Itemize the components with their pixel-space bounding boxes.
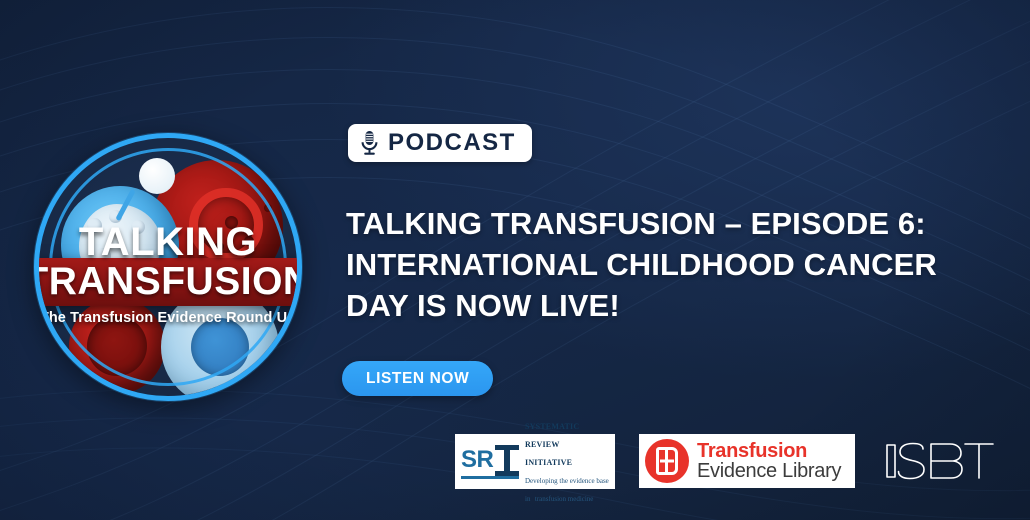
logo-systematic-review-initiative[interactable]: SR SYSTEMATIC REVIEW INITIATIVE Developi… [455,434,615,489]
tel-line-2: Evidence Library [697,460,841,482]
sri-tagline-line-2: transfusion medicine [535,495,594,503]
red-cell-dot-icon [264,204,272,212]
sri-wordmark: SYSTEMATIC REVIEW INITIATIVE Developing … [525,416,609,506]
sri-monogram-letters: SR [461,448,493,472]
promo-banner: TRANSFUSION TALKING The Transfusion Evid… [0,0,1030,520]
logo-transfusion-evidence-library[interactable]: Transfusion Evidence Library [639,434,855,488]
listen-now-button[interactable]: LISTEN NOW [342,361,493,396]
artwork-title-banner: TRANSFUSION [34,258,302,306]
tel-line-1: Transfusion [697,440,807,462]
episode-headline: TALKING TRANSFUSION – EPISODE 6: INTERNA… [346,203,1006,326]
book-circle-icon [645,439,689,483]
sri-title-line-1: SYSTEMATIC REVIEW [525,422,579,449]
sri-title-line-2: INITIATIVE [525,458,572,467]
artwork-title-line2: TRANSFUSION [34,258,302,306]
podcast-badge: PODCAST [348,124,532,162]
artwork-tagline: The Transfusion Evidence Round Up [39,310,297,326]
podcast-badge-label: PODCAST [388,131,516,155]
artwork-ring: TRANSFUSION TALKING The Transfusion Evid… [34,133,302,401]
book-glyph [656,447,678,475]
target-cell-nucleus [191,318,249,376]
headline-line-2: INTERNATIONAL CHILDHOOD CANCER [346,244,1006,285]
headline-line-3: DAY IS NOW LIVE! [346,285,1006,326]
microphone-icon [360,130,379,156]
isbt-outline-icon [879,436,997,486]
platelet-icon [139,158,175,194]
sri-monogram-icon: SR [461,443,521,479]
artwork-title-line1: TALKING [39,222,297,262]
tel-wordmark: Transfusion Evidence Library [697,441,849,481]
sri-underline [461,476,519,479]
podcast-cover-artwork: TRANSFUSION TALKING The Transfusion Evid… [34,133,302,401]
logo-isbt[interactable]: ISBT [879,436,997,486]
partner-logos: SR SYSTEMATIC REVIEW INITIATIVE Developi… [455,430,1000,492]
headline-line-1: TALKING TRANSFUSION – EPISODE 6: [346,203,1006,244]
